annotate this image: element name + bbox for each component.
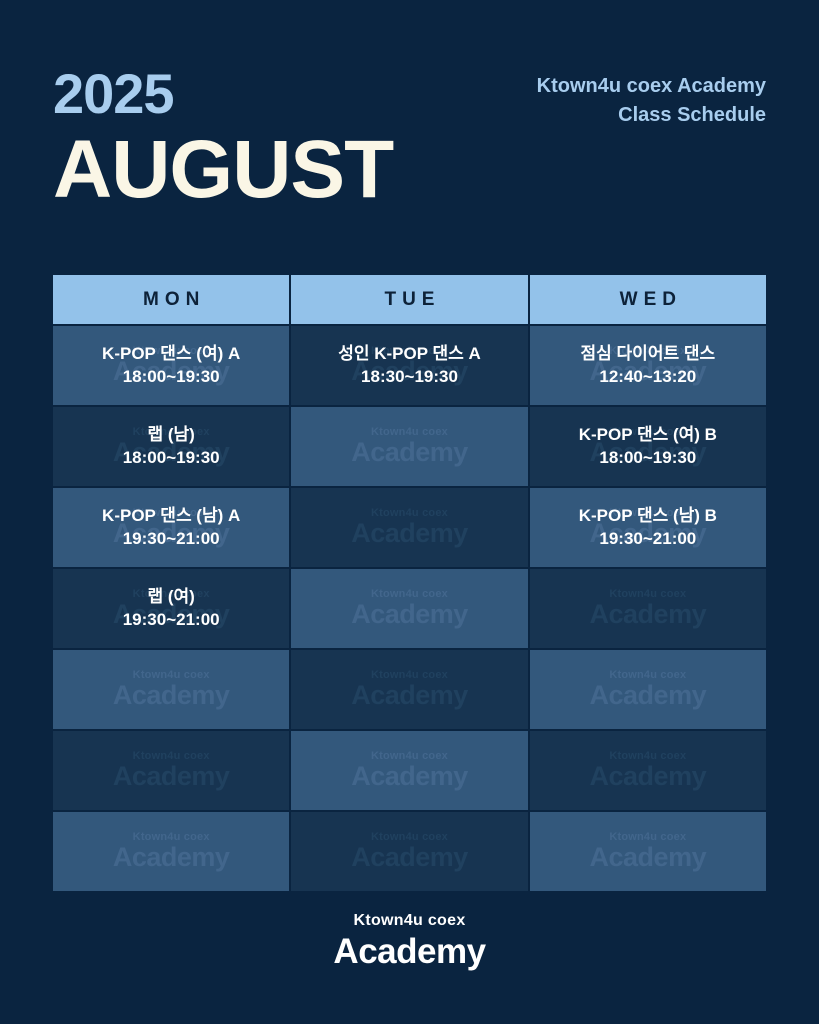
- watermark-brand-small: Ktown4u coex: [53, 831, 289, 843]
- watermark-brand-big: Academy: [53, 762, 289, 792]
- academy-watermark: Ktown4u coexAcademy: [53, 750, 289, 792]
- class-cell[interactable]: Ktown4u coexAcademyK-POP 댄스 (여) B18:00~1…: [530, 407, 766, 486]
- watermark-brand-small: Ktown4u coex: [291, 507, 527, 519]
- class-time: 19:30~21:00: [123, 609, 220, 632]
- brand-line-2: Class Schedule: [537, 101, 766, 130]
- watermark-brand-small: Ktown4u coex: [530, 669, 766, 681]
- empty-cell: Ktown4u coexAcademy: [53, 812, 289, 891]
- class-time: 12:40~13:20: [581, 366, 716, 389]
- watermark-brand-small: Ktown4u coex: [291, 669, 527, 681]
- class-entry: K-POP 댄스 (남) A19:30~21:00: [102, 505, 240, 551]
- watermark-brand-small: Ktown4u coex: [291, 750, 527, 762]
- academy-watermark: Ktown4u coexAcademy: [530, 750, 766, 792]
- academy-watermark: Ktown4u coexAcademy: [291, 831, 527, 873]
- academy-watermark: Ktown4u coexAcademy: [291, 588, 527, 630]
- class-entry: 성인 K-POP 댄스 A18:30~19:30: [338, 343, 481, 389]
- watermark-brand-big: Academy: [53, 843, 289, 873]
- class-entry: 랩 (여)19:30~21:00: [123, 586, 220, 632]
- footer-logo: Ktown4u coex Academy: [0, 912, 819, 972]
- class-entry: K-POP 댄스 (여) B18:00~19:30: [579, 424, 717, 470]
- academy-watermark: Ktown4u coexAcademy: [53, 831, 289, 873]
- watermark-brand-small: Ktown4u coex: [53, 669, 289, 681]
- watermark-brand-big: Academy: [291, 600, 527, 630]
- watermark-brand-big: Academy: [291, 843, 527, 873]
- empty-cell: Ktown4u coexAcademy: [53, 731, 289, 810]
- class-cell[interactable]: Ktown4u coexAcademy점심 다이어트 댄스12:40~13:20: [530, 326, 766, 405]
- watermark-brand-big: Academy: [291, 438, 527, 468]
- brand-heading: Ktown4u coex Academy Class Schedule: [537, 72, 766, 130]
- class-entry: 랩 (남)18:00~19:30: [123, 424, 220, 470]
- class-time: 18:00~19:30: [102, 366, 240, 389]
- watermark-brand-big: Academy: [291, 762, 527, 792]
- class-cell[interactable]: Ktown4u coexAcademy랩 (여)19:30~21:00: [53, 569, 289, 648]
- watermark-brand-small: Ktown4u coex: [530, 831, 766, 843]
- watermark-brand-big: Academy: [530, 843, 766, 873]
- class-title: K-POP 댄스 (여) A: [102, 343, 240, 366]
- class-time: 18:00~19:30: [123, 447, 220, 470]
- empty-cell: Ktown4u coexAcademy: [530, 731, 766, 810]
- watermark-brand-big: Academy: [291, 681, 527, 711]
- class-cell[interactable]: Ktown4u coexAcademy랩 (남)18:00~19:30: [53, 407, 289, 486]
- month-label: AUGUST: [53, 128, 393, 212]
- title-block: 2025 AUGUST: [53, 66, 393, 212]
- academy-watermark: Ktown4u coexAcademy: [530, 669, 766, 711]
- class-entry: K-POP 댄스 (남) B19:30~21:00: [579, 505, 717, 551]
- class-time: 18:00~19:30: [579, 447, 717, 470]
- class-title: K-POP 댄스 (남) B: [579, 505, 717, 528]
- empty-cell: Ktown4u coexAcademy: [291, 407, 527, 486]
- class-cell[interactable]: Ktown4u coexAcademy성인 K-POP 댄스 A18:30~19…: [291, 326, 527, 405]
- footer-brand-small: Ktown4u coex: [0, 912, 819, 930]
- footer-brand-big: Academy: [0, 932, 819, 972]
- empty-cell: Ktown4u coexAcademy: [530, 650, 766, 729]
- page-header: 2025 AUGUST Ktown4u coex Academy Class S…: [0, 0, 819, 250]
- watermark-brand-small: Ktown4u coex: [53, 750, 289, 762]
- academy-watermark: Ktown4u coexAcademy: [291, 426, 527, 468]
- academy-watermark: Ktown4u coexAcademy: [291, 669, 527, 711]
- watermark-brand-small: Ktown4u coex: [291, 831, 527, 843]
- class-cell[interactable]: Ktown4u coexAcademyK-POP 댄스 (남) A19:30~2…: [53, 488, 289, 567]
- watermark-brand-big: Academy: [530, 762, 766, 792]
- watermark-brand-small: Ktown4u coex: [291, 588, 527, 600]
- watermark-brand-small: Ktown4u coex: [291, 426, 527, 438]
- empty-cell: Ktown4u coexAcademy: [291, 569, 527, 648]
- class-title: K-POP 댄스 (남) A: [102, 505, 240, 528]
- empty-cell: Ktown4u coexAcademy: [530, 569, 766, 648]
- class-cell[interactable]: Ktown4u coexAcademyK-POP 댄스 (남) B19:30~2…: [530, 488, 766, 567]
- class-cell[interactable]: Ktown4u coexAcademyK-POP 댄스 (여) A18:00~1…: [53, 326, 289, 405]
- academy-watermark: Ktown4u coexAcademy: [530, 831, 766, 873]
- class-time: 18:30~19:30: [338, 366, 481, 389]
- academy-watermark: Ktown4u coexAcademy: [53, 669, 289, 711]
- class-title: 점심 다이어트 댄스: [581, 343, 716, 366]
- column-header-tue: TUE: [291, 275, 527, 324]
- empty-cell: Ktown4u coexAcademy: [53, 650, 289, 729]
- class-time: 19:30~21:00: [102, 528, 240, 551]
- watermark-brand-big: Academy: [291, 519, 527, 549]
- academy-watermark: Ktown4u coexAcademy: [530, 588, 766, 630]
- brand-line-1: Ktown4u coex Academy: [537, 72, 766, 101]
- class-title: 랩 (여): [123, 586, 220, 609]
- column-header-wed: WED: [530, 275, 766, 324]
- class-schedule-table: MONTUEWEDKtown4u coexAcademyK-POP 댄스 (여)…: [53, 275, 766, 891]
- empty-cell: Ktown4u coexAcademy: [291, 650, 527, 729]
- year-label: 2025: [53, 66, 393, 122]
- class-title: 랩 (남): [123, 424, 220, 447]
- empty-cell: Ktown4u coexAcademy: [291, 812, 527, 891]
- watermark-brand-big: Academy: [530, 681, 766, 711]
- empty-cell: Ktown4u coexAcademy: [530, 812, 766, 891]
- class-entry: K-POP 댄스 (여) A18:00~19:30: [102, 343, 240, 389]
- column-header-mon: MON: [53, 275, 289, 324]
- class-title: K-POP 댄스 (여) B: [579, 424, 717, 447]
- watermark-brand-small: Ktown4u coex: [530, 750, 766, 762]
- academy-watermark: Ktown4u coexAcademy: [291, 507, 527, 549]
- watermark-brand-big: Academy: [530, 600, 766, 630]
- class-entry: 점심 다이어트 댄스12:40~13:20: [581, 343, 716, 389]
- empty-cell: Ktown4u coexAcademy: [291, 731, 527, 810]
- class-title: 성인 K-POP 댄스 A: [338, 343, 481, 366]
- watermark-brand-big: Academy: [53, 681, 289, 711]
- academy-watermark: Ktown4u coexAcademy: [291, 750, 527, 792]
- watermark-brand-small: Ktown4u coex: [530, 588, 766, 600]
- class-time: 19:30~21:00: [579, 528, 717, 551]
- empty-cell: Ktown4u coexAcademy: [291, 488, 527, 567]
